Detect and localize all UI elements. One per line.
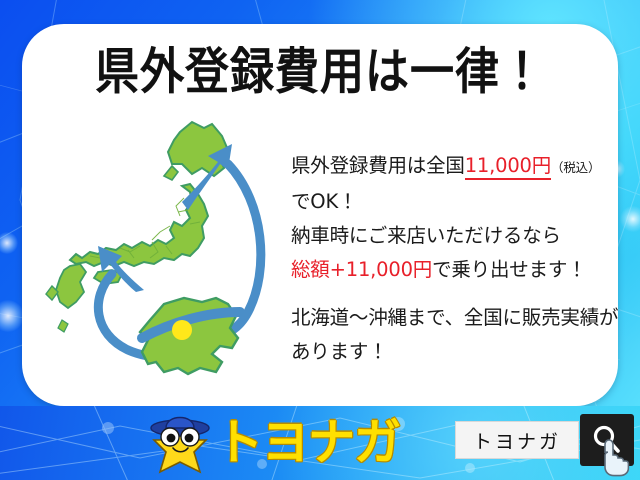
copy-line-2-seg-1: でOK！	[291, 190, 357, 213]
copy-line-2: でOK！	[291, 185, 618, 219]
search-input[interactable]: トヨナガ	[455, 421, 579, 459]
page-title: 県外登録費用は一律！	[22, 48, 618, 97]
poster-canvas: 県外登録費用は一律！	[0, 0, 640, 480]
copy-line-5-seg-1: 北海道〜沖縄まで、全国に販売実績が	[291, 306, 618, 329]
copy-line-1: 県外登録費用は全国11,000円（税込）	[291, 149, 618, 185]
japan-map-illustration	[32, 106, 282, 398]
mascot-pupil-left	[167, 434, 176, 443]
region-honshu	[70, 184, 208, 266]
copy-line-6: あります！	[291, 335, 618, 369]
mascot-hat-crown	[166, 418, 194, 429]
copy-line-1-price: 11,000円	[465, 154, 551, 180]
copy-line-6-seg-1: あります！	[291, 340, 388, 363]
copy-line-5: 北海道〜沖縄まで、全国に販売実績が	[291, 301, 618, 335]
copy-line-4-seg-2: で乗り出せます！	[432, 258, 586, 281]
copy-line-4-total-price: 総額+11,000円	[291, 258, 432, 281]
copy-paragraph-gap	[291, 287, 618, 301]
hand-pointer-shape	[605, 440, 628, 476]
search-input-value: トヨナガ	[473, 427, 561, 454]
dealer-location-dot	[172, 320, 192, 340]
region-okinawa	[58, 320, 68, 332]
body-copy: 県外登録費用は全国11,000円（税込） でOK！ 納車時にご来店いただけるなら…	[291, 149, 618, 369]
copy-line-3: 納車時にご来店いただけるなら	[291, 219, 618, 253]
brand-logo-text: トヨナガ	[216, 413, 400, 473]
content-card: 県外登録費用は一律！	[22, 24, 618, 406]
mascot-pupil-right	[185, 434, 194, 443]
copy-line-1-tax-note: （税込）	[551, 160, 600, 175]
copy-line-1-seg-1: 県外登録費用は全国	[291, 154, 465, 177]
region-kyushu	[56, 264, 86, 308]
copy-line-3-seg-1: 納車時にご来店いただけるなら	[291, 224, 561, 247]
copy-line-4: 総額+11,000円で乗り出せます！	[291, 253, 618, 287]
hand-pointer-icon	[598, 437, 632, 477]
toyonaga-star-mascot	[146, 406, 214, 480]
region-hokkaido	[168, 122, 228, 176]
region-hokkaido-tail	[164, 166, 178, 180]
